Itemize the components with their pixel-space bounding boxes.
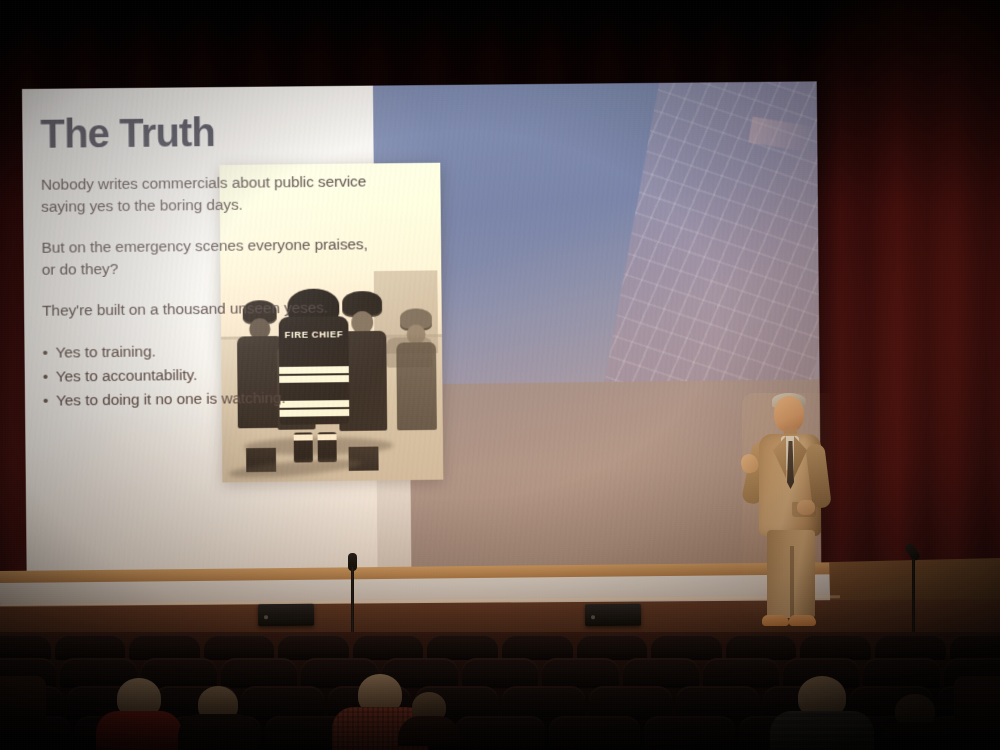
slide-bullet-list: Yes to training. Yes to accountability. … — [42, 338, 372, 414]
audience-shadow-overlay — [0, 632, 1000, 750]
boot-cuff — [318, 434, 337, 440]
audience-area — [0, 632, 1000, 750]
boot-cuff — [294, 434, 313, 440]
presenter-figure — [745, 396, 835, 636]
chief-boot — [318, 432, 337, 462]
presenter-leg-seam — [790, 546, 794, 618]
photo-legs — [348, 447, 379, 471]
slide-bullet-item: Yes to doing it no one is watching. — [43, 386, 372, 414]
stage-monitor-left — [258, 604, 314, 627]
slide-paragraph: They're built on a thousand unseen yeses… — [42, 297, 371, 323]
presenter-shoe — [762, 615, 789, 626]
firefighter-figure — [396, 308, 437, 448]
photo-torso — [396, 342, 437, 430]
stage-monitor-right — [585, 604, 641, 627]
presenter-shoe — [789, 615, 816, 626]
chief-boot — [294, 432, 313, 462]
projection-screen[interactable]: FIRE CHIEF The Truth Nobody writes comme… — [22, 81, 821, 576]
mic-pole — [912, 559, 915, 643]
slide-title: The Truth — [40, 112, 369, 155]
presenter-right-hand — [797, 500, 815, 515]
slide-paragraph: Nobody writes commercials about public s… — [41, 171, 370, 218]
auditorium-scene: FIRE CHIEF The Truth Nobody writes comme… — [0, 0, 1000, 750]
slide-text-block: The Truth Nobody writes commercials abou… — [40, 112, 372, 414]
slide-paragraph: But on the emergency scenes everyone pra… — [41, 234, 370, 282]
